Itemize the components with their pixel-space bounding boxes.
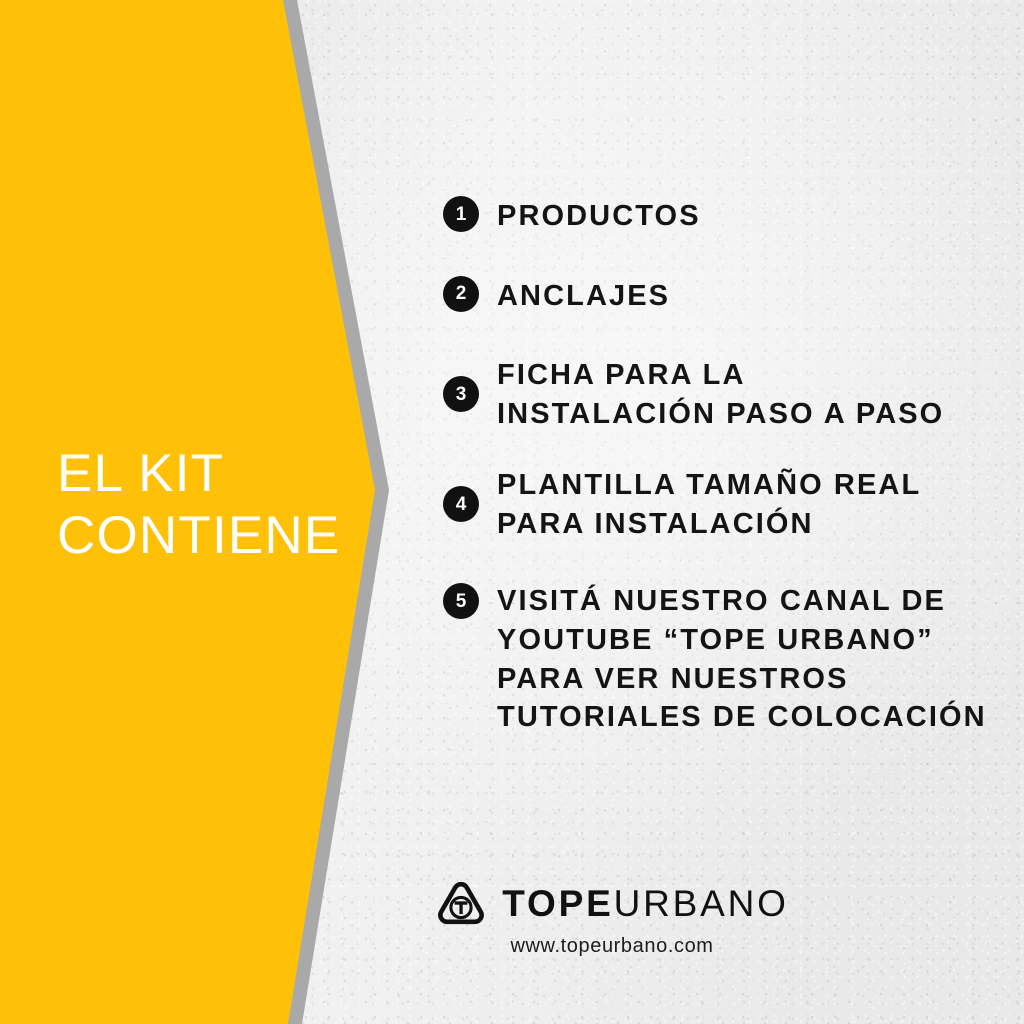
brand-name-bold: TOPE (502, 883, 613, 924)
website-url: www.topeurbano.com (510, 935, 713, 958)
list-item-line: PARA INSTALACIÓN (497, 505, 921, 544)
list-item-number-badge: 1 (443, 196, 479, 232)
list-item-text: ANCLAJES (497, 276, 670, 316)
list-item-line: VISITÁ NUESTRO CANAL DE (497, 582, 987, 621)
list-item: 3 FICHA PARA LA INSTALACIÓN PASO A PASO (443, 355, 988, 433)
list-item-line: FICHA PARA LA (497, 356, 944, 395)
list-item-line: INSTALACIÓN PASO A PASO (497, 395, 944, 434)
list-item-line: TUTORIALES DE COLOCACIÓN (497, 698, 987, 737)
list-item-line: PLANTILLA TAMAÑO REAL (497, 466, 921, 505)
list-item-number-badge: 3 (443, 376, 479, 412)
promo-graphic: EL KIT CONTIENE 1 PRODUCTOS 2 ANCLAJES 3… (0, 0, 1024, 1024)
list-item: 1 PRODUCTOS (443, 196, 988, 236)
page-title-line-2: CONTIENE (57, 505, 357, 567)
list-item-number-badge: 4 (443, 486, 479, 522)
list-item: 4 PLANTILLA TAMAÑO REAL PARA INSTALACIÓN (443, 465, 988, 543)
brand-lockup: TOPEURBANO (435, 880, 788, 926)
tope-urbano-triangle-t-icon (435, 880, 487, 926)
list-item-line: PARA VER NUESTROS (497, 660, 987, 699)
brand-footer: TOPEURBANO www.topeurbano.com (0, 880, 1024, 958)
page-title: EL KIT CONTIENE (57, 443, 357, 567)
brand-name-light: URBANO (614, 883, 789, 924)
list-item-line: PRODUCTOS (497, 197, 701, 236)
kit-contents-list: 1 PRODUCTOS 2 ANCLAJES 3 FICHA PARA LA I… (443, 196, 988, 737)
list-item-text: PRODUCTOS (497, 196, 701, 236)
list-item-text: FICHA PARA LA INSTALACIÓN PASO A PASO (497, 355, 944, 433)
list-item-text: VISITÁ NUESTRO CANAL DE YOUTUBE “TOPE UR… (497, 581, 987, 736)
list-item: 5 VISITÁ NUESTRO CANAL DE YOUTUBE “TOPE … (443, 581, 988, 736)
list-item-number-badge: 5 (443, 583, 479, 619)
page-title-line-1: EL KIT (57, 443, 357, 505)
list-item-number-badge: 2 (443, 276, 479, 312)
brand-wordmark: TOPEURBANO (502, 885, 788, 922)
list-item-line: ANCLAJES (497, 277, 670, 316)
list-item: 2 ANCLAJES (443, 276, 988, 316)
list-item-line: YOUTUBE “TOPE URBANO” (497, 621, 987, 660)
list-item-text: PLANTILLA TAMAÑO REAL PARA INSTALACIÓN (497, 465, 921, 543)
